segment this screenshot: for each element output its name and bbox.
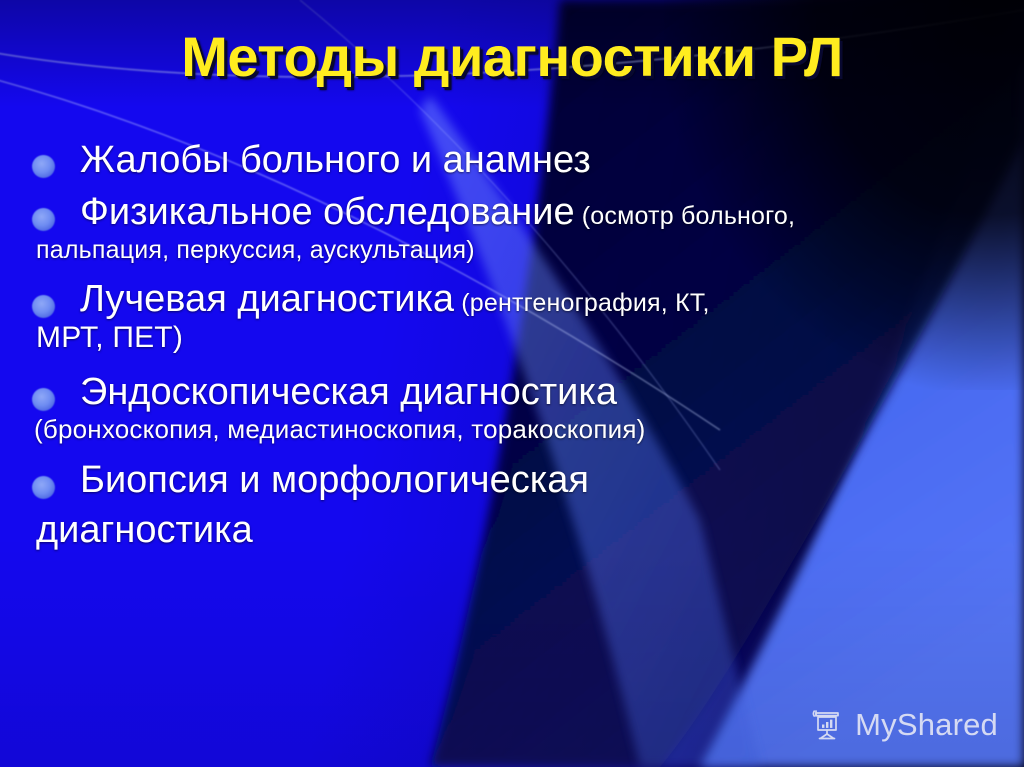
list-item: Эндоскопическая диагностика (бронхоскопи…: [22, 372, 1012, 444]
list-item: Физикальное обследование (осмотр больног…: [22, 192, 1012, 263]
watermark-label: MyShared: [855, 707, 998, 743]
bullet-continuation-text: диагностика: [36, 510, 1012, 550]
bullet-continuation-text: МРТ, ПЕТ): [36, 322, 1012, 354]
bullet-main-text: Эндоскопическая диагностика: [80, 371, 617, 413]
bullet-text-group: Биопсия и морфологическая диагностика: [80, 460, 1012, 551]
chart-bars-icon: [822, 720, 832, 728]
list-item: Лучевая диагностика (рентгенография, КТ,…: [22, 279, 1012, 354]
bullet-continuation-text: (бронхоскопия, медиастиноскопия, торакос…: [34, 416, 1012, 444]
bullet-main-text: Лучевая диагностика: [80, 278, 454, 320]
bullet-dot-icon: [32, 208, 55, 231]
bullet-detail-text: (рентгенография, КТ,: [454, 289, 710, 317]
bullet-main-text: Физикальное обследование: [80, 191, 575, 233]
myshared-watermark: MyShared: [811, 707, 998, 743]
list-item: Биопсия и морфологическая диагностика: [22, 460, 1012, 551]
bullet-main-text: Жалобы больного и анамнез: [80, 139, 591, 181]
bullet-detail-text: (осмотр больного,: [575, 202, 796, 230]
list-item: Жалобы больного и анамнез: [22, 140, 1012, 180]
bullet-dot-icon: [32, 388, 55, 411]
slide-canvas: Методы диагностики РЛ Жалобы больного и …: [0, 0, 1024, 767]
bullet-continuation-text: пальпация, перкуссия, аускультация): [36, 237, 1012, 264]
bullet-dot-icon: [32, 476, 55, 499]
bullet-dot-icon: [32, 155, 55, 178]
bullet-text-group: Лучевая диагностика (рентгенография, КТ,…: [80, 279, 1012, 354]
bullet-list: Жалобы больного и анамнез Физикальное об…: [22, 140, 1012, 554]
slide-title: Методы диагностики РЛ: [0, 24, 1024, 89]
bullet-text-group: Жалобы больного и анамнез: [80, 140, 1012, 180]
bullet-text-group: Эндоскопическая диагностика (бронхоскопи…: [80, 372, 1012, 444]
bullet-text-group: Физикальное обследование (осмотр больног…: [80, 192, 1012, 263]
bullet-main-text: Биопсия и морфологическая: [80, 459, 589, 501]
bullet-dot-icon: [32, 295, 55, 318]
presentation-chart-icon: [811, 709, 845, 741]
